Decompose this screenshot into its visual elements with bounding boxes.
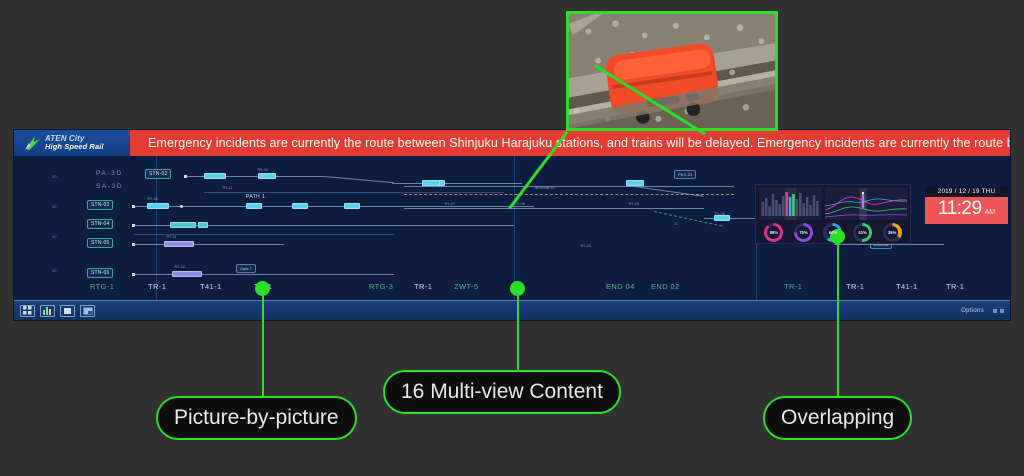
track-block xyxy=(198,222,208,228)
pkg-pill[interactable]: PKG-03 xyxy=(674,170,696,179)
clock-date: 2019 / 12 / 19 THU xyxy=(925,186,1008,197)
kpi-gauge[interactable]: 89% xyxy=(764,223,783,242)
status-square xyxy=(993,309,997,313)
kpi-value: 89% xyxy=(770,230,778,235)
options-label[interactable]: Options xyxy=(961,308,984,314)
track-label: TR-06 xyxy=(147,197,158,201)
callout-multiview: 16 Multi-view Content xyxy=(383,370,621,414)
line-chart-widget[interactable] xyxy=(825,188,907,220)
track-label: TR-03 xyxy=(580,244,591,248)
diagram-divider xyxy=(514,156,515,300)
axis-tick: 40 xyxy=(52,234,56,239)
foot-label: TR-1 xyxy=(946,282,964,291)
foot-label: END 02 xyxy=(651,282,680,291)
foot-label: TR-1 xyxy=(148,282,166,291)
clock-widget: 2019 / 12 / 19 THU 11:29 AM xyxy=(925,186,1008,224)
callout-dot-pbp xyxy=(255,281,270,296)
bar-chart-icon[interactable] xyxy=(40,305,55,317)
pip-window-icon[interactable] xyxy=(80,305,95,317)
station-chip-stn-05[interactable]: STN-05 xyxy=(87,238,113,248)
bar-chart-widget[interactable] xyxy=(759,188,822,220)
callout-picture-by-picture: Picture-by-picture xyxy=(156,396,357,440)
station-chip-stn-06[interactable]: STN-06 xyxy=(87,268,113,278)
callout-overlapping-label: Overlapping xyxy=(781,406,894,430)
track-label: TR-05 xyxy=(714,212,725,216)
track-line xyxy=(404,208,704,209)
axis-tick: 40 xyxy=(52,268,56,273)
foot-label: TR-1 xyxy=(414,282,432,291)
track-label: TR-11 xyxy=(222,186,233,190)
callout-multiview-label: 16 Multi-view Content xyxy=(401,380,603,404)
track-block xyxy=(147,203,169,209)
track-block xyxy=(170,222,196,228)
track-block xyxy=(344,203,360,209)
clock-time: 11:29 AM xyxy=(925,197,1008,224)
track-label: TR-09 xyxy=(628,202,639,206)
kpi-gauge[interactable]: 51% xyxy=(853,223,872,242)
path-name-label: PATH 1 xyxy=(246,194,265,200)
arrow-bird-icon xyxy=(24,135,42,151)
track-line xyxy=(392,183,522,184)
foot-label: T41-1 xyxy=(896,282,918,291)
axis-tick: 40 xyxy=(52,204,56,209)
callout-line-overlapping xyxy=(837,238,839,398)
wall-header: ATEN City High Speed Rail Emergency inci… xyxy=(14,130,1010,156)
track-line xyxy=(134,244,284,245)
track-node xyxy=(180,205,183,208)
kpi-gauge[interactable]: 35% xyxy=(883,223,902,242)
track-label: TR-04 xyxy=(257,168,268,172)
callout-dot-multiview xyxy=(510,281,525,296)
track-block xyxy=(246,203,262,209)
ticker-text: Emergency incidents are currently the ro… xyxy=(130,136,1010,150)
clock-meridiem: AM xyxy=(985,209,996,216)
screenshot-root: ATEN City High Speed Rail Emergency inci… xyxy=(0,0,1024,476)
pa-3d-label: PA-3D xyxy=(96,170,123,177)
track-block xyxy=(626,180,644,186)
track-label: TR-02 xyxy=(174,265,185,269)
callout-line-pbp xyxy=(262,290,264,398)
kpi-value: 35% xyxy=(888,230,896,235)
track-label: TR-07 xyxy=(444,202,455,206)
kpi-value: 75% xyxy=(799,230,807,235)
track-line xyxy=(834,244,944,245)
callout-line-multiview xyxy=(517,290,519,372)
track-line xyxy=(324,176,394,183)
axis-tick: 40 xyxy=(674,221,678,226)
kpi-value: 60% xyxy=(829,230,837,235)
foot-label: TR-1 xyxy=(846,282,864,291)
foot-label: END 04 xyxy=(606,282,635,291)
brand-logo: ATEN City High Speed Rail xyxy=(14,130,130,156)
track-block xyxy=(292,203,308,209)
single-window-icon[interactable] xyxy=(60,305,75,317)
kpi-value: 51% xyxy=(858,230,866,235)
track-line xyxy=(404,186,734,187)
track-line xyxy=(134,206,534,207)
track-block xyxy=(204,173,226,179)
foot-label: ZWT-5 xyxy=(454,282,479,291)
grid-view-icon[interactable] xyxy=(20,305,35,317)
track-block xyxy=(172,271,202,277)
track-block xyxy=(164,241,194,247)
station-chip-stn-04[interactable]: STN-04 xyxy=(87,219,113,229)
foot-label: TR-1 xyxy=(784,282,802,291)
station-chip-stn-02[interactable]: STN-02 xyxy=(145,169,171,179)
clock-hours-minutes: 11:29 xyxy=(938,198,982,220)
brand-line-2: High Speed Rail xyxy=(45,143,104,151)
bottom-toolbar: Options xyxy=(14,300,1010,320)
path-line xyxy=(204,192,504,193)
track-block xyxy=(422,180,440,186)
emergency-ticker: Emergency incidents are currently the ro… xyxy=(130,130,1010,156)
track-label: TR-01 xyxy=(166,235,177,239)
status-square xyxy=(1000,309,1004,313)
sa-3d-label: SA-3D xyxy=(96,183,123,190)
callout-picture-by-picture-label: Picture-by-picture xyxy=(174,406,339,430)
track-diagram: 40 40 40 40 40 PA-3D SA-3D STN-02 STN-03… xyxy=(14,156,1010,300)
track-line xyxy=(634,186,703,197)
axis-tick: 40 xyxy=(52,174,56,179)
track-line xyxy=(134,234,394,235)
station-chip-stn-03[interactable]: STN-03 xyxy=(87,200,113,210)
terminal-label: Terminal-02 xyxy=(534,186,555,190)
kpi-gauge[interactable]: 75% xyxy=(794,223,813,242)
gate-pill[interactable]: Gate 7 xyxy=(236,264,256,273)
foot-label: RTG-1 xyxy=(90,282,114,291)
track-block xyxy=(258,173,276,179)
foot-label: RTG-3 xyxy=(369,282,393,291)
foot-label: T41-1 xyxy=(200,282,222,291)
callout-overlapping: Overlapping xyxy=(763,396,912,440)
analytics-charts-row xyxy=(759,188,907,220)
